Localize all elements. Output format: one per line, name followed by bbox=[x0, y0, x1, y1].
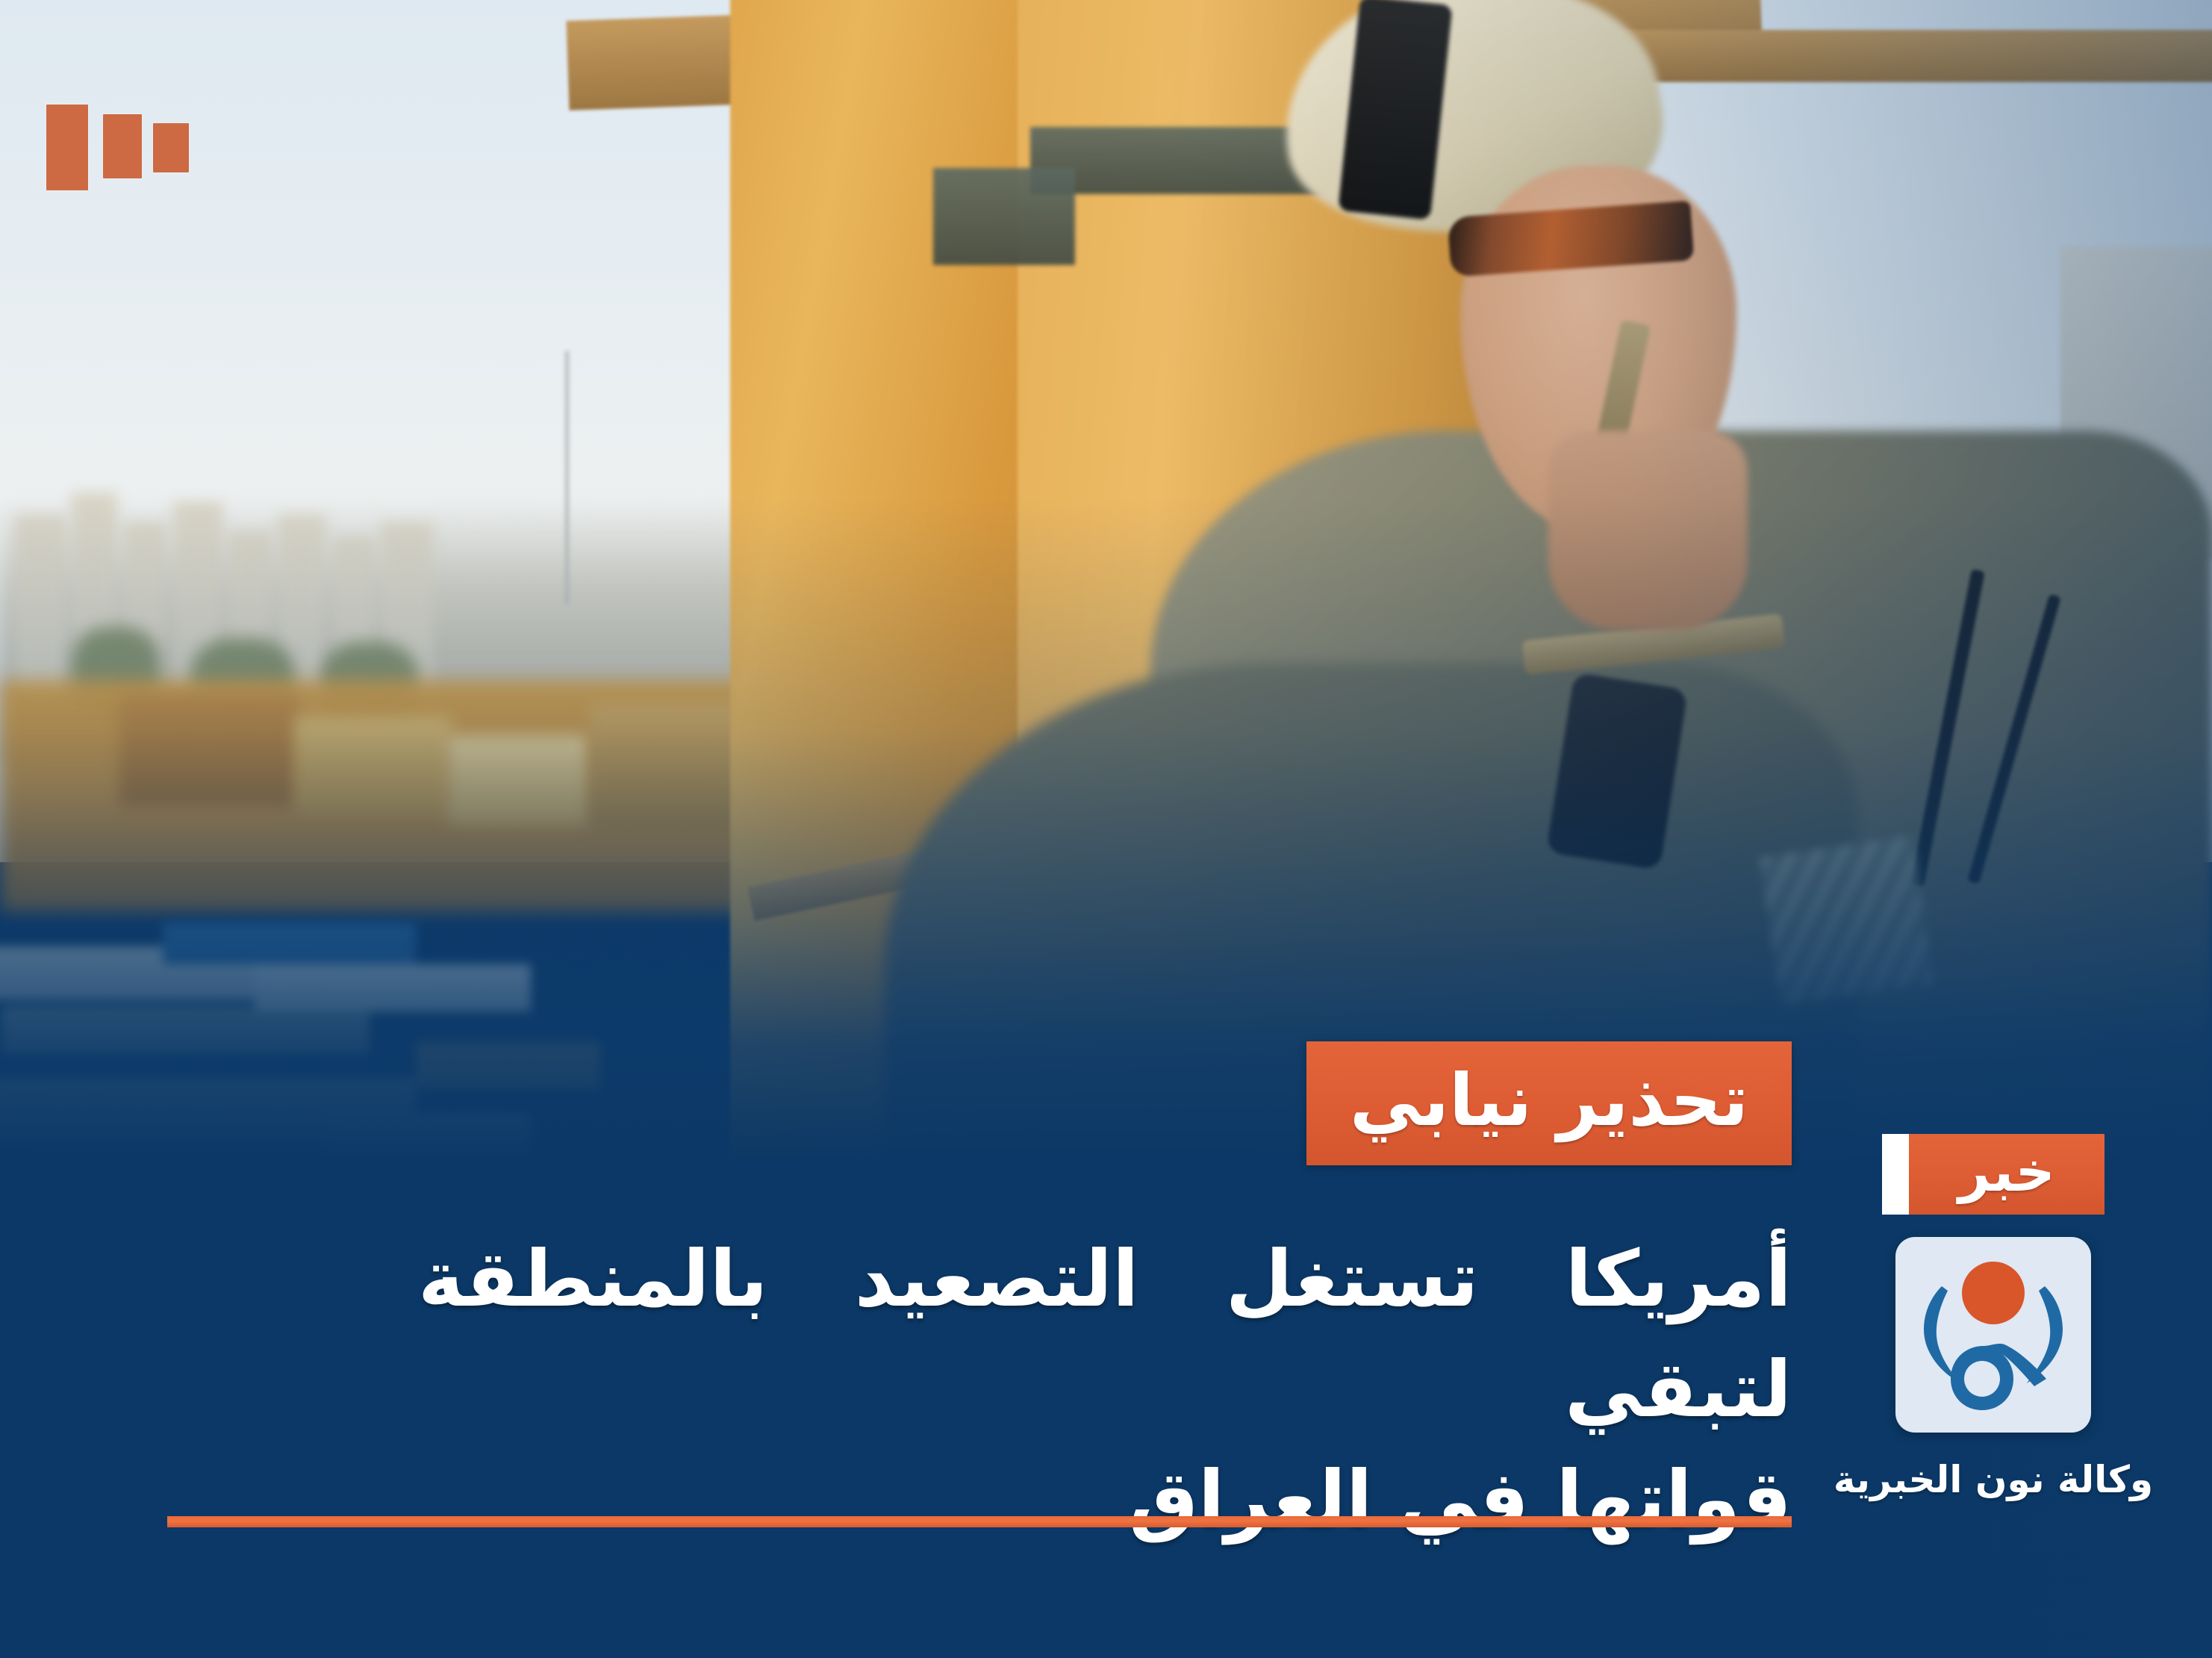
brand-column: خبر وكالة نون الخبرية bbox=[1881, 1134, 2105, 1500]
agency-logo bbox=[1895, 1237, 2091, 1433]
page-title: أمريكا تستغل التصعيد بالمنطقة لتبقي قوات… bbox=[418, 1224, 1792, 1555]
orange-divider bbox=[167, 1516, 1792, 1527]
news-card: تحذير نيابي أمريكا تستغل التصعيد بالمنطق… bbox=[0, 0, 2212, 1658]
news-tag: خبر bbox=[1882, 1134, 2104, 1215]
logo-head-circle bbox=[1962, 1262, 2025, 1324]
headline-line-2: قواتها في العراق bbox=[418, 1444, 1792, 1555]
news-tag-label: خبر bbox=[1958, 1144, 2055, 1200]
kicker-label: تحذير نيابي bbox=[1350, 1065, 1748, 1136]
agency-name: وكالة نون الخبرية bbox=[1834, 1459, 2153, 1500]
kicker-badge: تحذير نيابي bbox=[1306, 1041, 1792, 1165]
news-tag-orange: خبر bbox=[1909, 1134, 2104, 1215]
news-tag-white-bar bbox=[1882, 1134, 1909, 1215]
descending-bars-mark-icon bbox=[46, 97, 203, 190]
headline-line-1: أمريكا تستغل التصعيد بالمنطقة لتبقي bbox=[418, 1233, 1792, 1435]
